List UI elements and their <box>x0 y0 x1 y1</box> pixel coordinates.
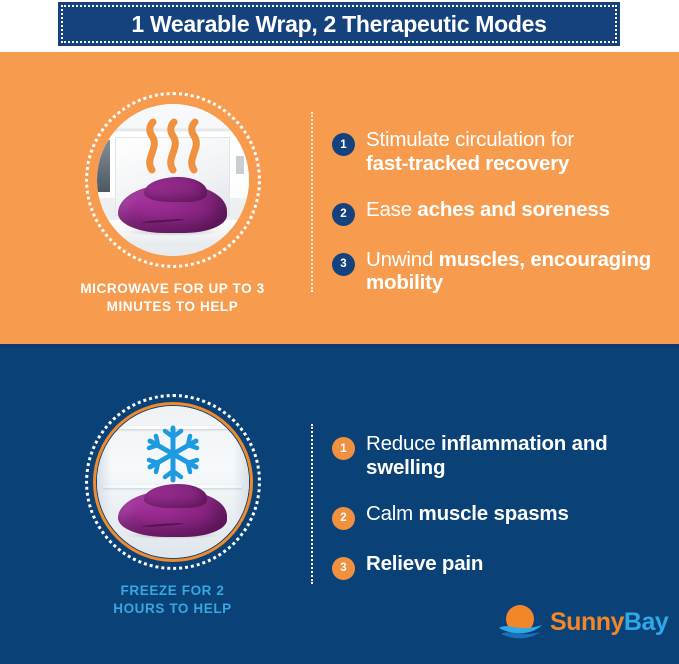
benefit-text: Calm muscle spasms <box>366 502 569 526</box>
list-item: 1 Stimulate circulation for fast-tracked… <box>332 128 662 176</box>
benefit-number-badge: 3 <box>332 253 355 276</box>
benefit-text: Ease aches and soreness <box>366 198 610 222</box>
benefit-lead: Ease <box>366 198 417 221</box>
list-item: 3 Unwind muscles, encouraging mobility <box>332 248 662 296</box>
benefit-text: Stimulate circulation for fast-tracked r… <box>366 128 574 176</box>
sun-over-waves-icon <box>498 603 544 641</box>
snowflake-icon <box>143 424 203 484</box>
freezer-wall-right <box>233 406 248 558</box>
benefit-number-badge: 2 <box>332 203 355 226</box>
wrap-fold <box>144 484 207 508</box>
heat-section-divider <box>311 112 313 292</box>
purple-wrap-cold <box>118 491 227 537</box>
benefit-lead: Reduce <box>366 432 441 455</box>
benefit-text: Reduce inflammation and swelling <box>366 432 662 480</box>
benefit-strong: fast-tracked recovery <box>366 152 569 175</box>
wrap-fold <box>144 177 207 202</box>
benefit-text: Relieve pain <box>366 552 483 576</box>
logo-text: SunnyBay <box>550 608 668 637</box>
benefit-number-badge: 2 <box>332 507 355 530</box>
cold-benefits-list: 1 Reduce inflammation and swelling 2 Cal… <box>332 432 662 580</box>
freezer-photo <box>97 406 249 558</box>
infographic-page: 1 Wearable Wrap, 2 Therapeutic Modes <box>0 0 679 664</box>
cold-caption: FREEZE FOR 2 HOURS TO HELP <box>60 582 285 618</box>
list-item: 2 Ease aches and soreness <box>332 198 662 226</box>
microwave-photo <box>97 104 249 256</box>
heat-caption-line1: MICROWAVE FOR UP TO 3 <box>60 280 285 298</box>
freezer-wall-left <box>97 406 112 558</box>
cold-caption-line1: FREEZE FOR 2 <box>60 582 285 600</box>
list-item: 1 Reduce inflammation and swelling <box>332 432 662 480</box>
benefit-lead: Stimulate circulation for <box>366 128 574 151</box>
brand-logo: SunnyBay <box>498 603 668 641</box>
logo-text-bay: Bay <box>624 608 668 636</box>
benefit-strong: Relieve pain <box>366 552 483 575</box>
benefit-number-badge: 1 <box>332 437 355 460</box>
microwave-photo-circle <box>85 92 261 268</box>
benefit-strong: aches and soreness <box>417 198 609 221</box>
purple-wrap-hot <box>118 185 227 234</box>
benefit-text: Unwind muscles, encouraging mobility <box>366 248 662 296</box>
microwave-door-edge <box>97 140 111 192</box>
microwave-control-button <box>236 156 244 174</box>
steam-icon <box>140 118 206 174</box>
benefit-lead: Calm <box>366 502 419 525</box>
cold-caption-line2: HOURS TO HELP <box>60 600 285 618</box>
heat-caption-line2: MINUTES TO HELP <box>60 298 285 316</box>
benefit-strong: muscle spasms <box>419 502 569 525</box>
list-item: 3 Relieve pain <box>332 552 662 580</box>
title-banner: 1 Wearable Wrap, 2 Therapeutic Modes <box>58 2 620 46</box>
heat-benefits-list: 1 Stimulate circulation for fast-tracked… <box>332 128 662 295</box>
heat-caption: MICROWAVE FOR UP TO 3 MINUTES TO HELP <box>60 280 285 316</box>
list-item: 2 Calm muscle spasms <box>332 502 662 530</box>
page-title: 1 Wearable Wrap, 2 Therapeutic Modes <box>131 11 546 38</box>
benefit-number-badge: 3 <box>332 557 355 580</box>
benefit-lead: Unwind <box>366 248 439 271</box>
cold-media-column: FREEZE FOR 2 HOURS TO HELP <box>60 394 285 618</box>
cold-section-divider <box>311 424 313 584</box>
heat-media-column: MICROWAVE FOR UP TO 3 MINUTES TO HELP <box>60 92 285 316</box>
logo-text-sunny: Sunny <box>550 608 624 636</box>
benefit-number-badge: 1 <box>332 133 355 156</box>
freezer-photo-circle <box>85 394 261 570</box>
